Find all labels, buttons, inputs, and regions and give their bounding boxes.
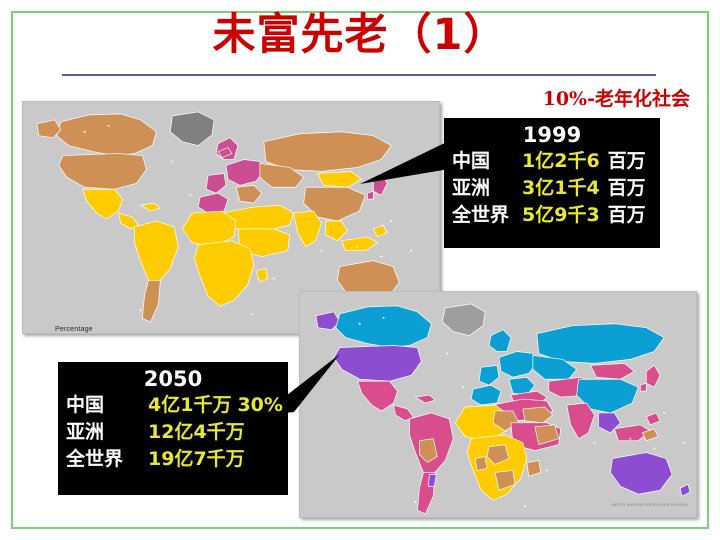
slide-canvas: 未富先老（1） 10%-老年化社会 [0,0,720,540]
callout-row: 中国 4亿1千万 30% [58,392,288,419]
callout-row-label: 中国 [452,148,514,175]
callout-row-label: 亚洲 [452,175,514,202]
legend-title-line1: Percentage [55,324,109,334]
callout-row-value: 12亿4千万 [148,419,245,446]
callout-arrow-1999 [360,128,455,198]
callout-row-label: 全世界 [66,446,140,473]
callout-row-value: 19亿7千万 [148,446,245,473]
callout-row: 全世界 5亿9千3 百万 [444,202,660,229]
callout-row: 全世界 19亿7千万 [58,446,288,473]
callout-row: 亚洲 3亿1千4 百万 [444,175,660,202]
callout-row-label: 亚洲 [66,419,140,446]
callout-row-value: 5亿9千3 [522,202,600,229]
world-map-2050-graphic [300,292,696,517]
callout-row-value: 4亿1千万 [148,392,231,419]
callout-box-2050: 2050 中国 4亿1千万 30% 亚洲 12亿4千万 全世界 19亿7千万 [58,362,288,495]
callout-row-label: 中国 [66,392,140,419]
callout-row-percent: 30% [237,392,282,419]
page-title: 未富先老（1） [0,6,720,64]
callout-row-value: 1亿2千6 [522,148,600,175]
legend-title-line2: aged 60 or older [55,334,109,335]
title-divider [62,74,656,76]
callout-year-2050: 2050 [58,362,288,392]
callout-row-unit: 百万 [608,148,646,175]
callout-row-unit: 百万 [608,202,646,229]
map-credit-text: UNITED NATIONS POPULATION DIVISION [611,503,688,507]
map-panel-2050: Percentage aged 60 or older 2050 0-9 10-… [299,291,697,518]
map-legend-1999: Percentage aged 60 or older 1999 0-9 10-… [55,324,109,334]
callout-year-1999: 1999 [444,118,660,148]
callout-row-label: 全世界 [452,202,514,229]
callout-row: 中国 1亿2千6 百万 [444,148,660,175]
callout-row-unit: 百万 [608,175,646,202]
callout-row-value: 3亿1千4 [522,175,600,202]
callout-box-1999: 1999 中国 1亿2千6 百万 亚洲 3亿1千4 百万 全世界 5亿9千3 百… [444,118,660,248]
callout-row: 亚洲 12亿4千万 [58,419,288,446]
